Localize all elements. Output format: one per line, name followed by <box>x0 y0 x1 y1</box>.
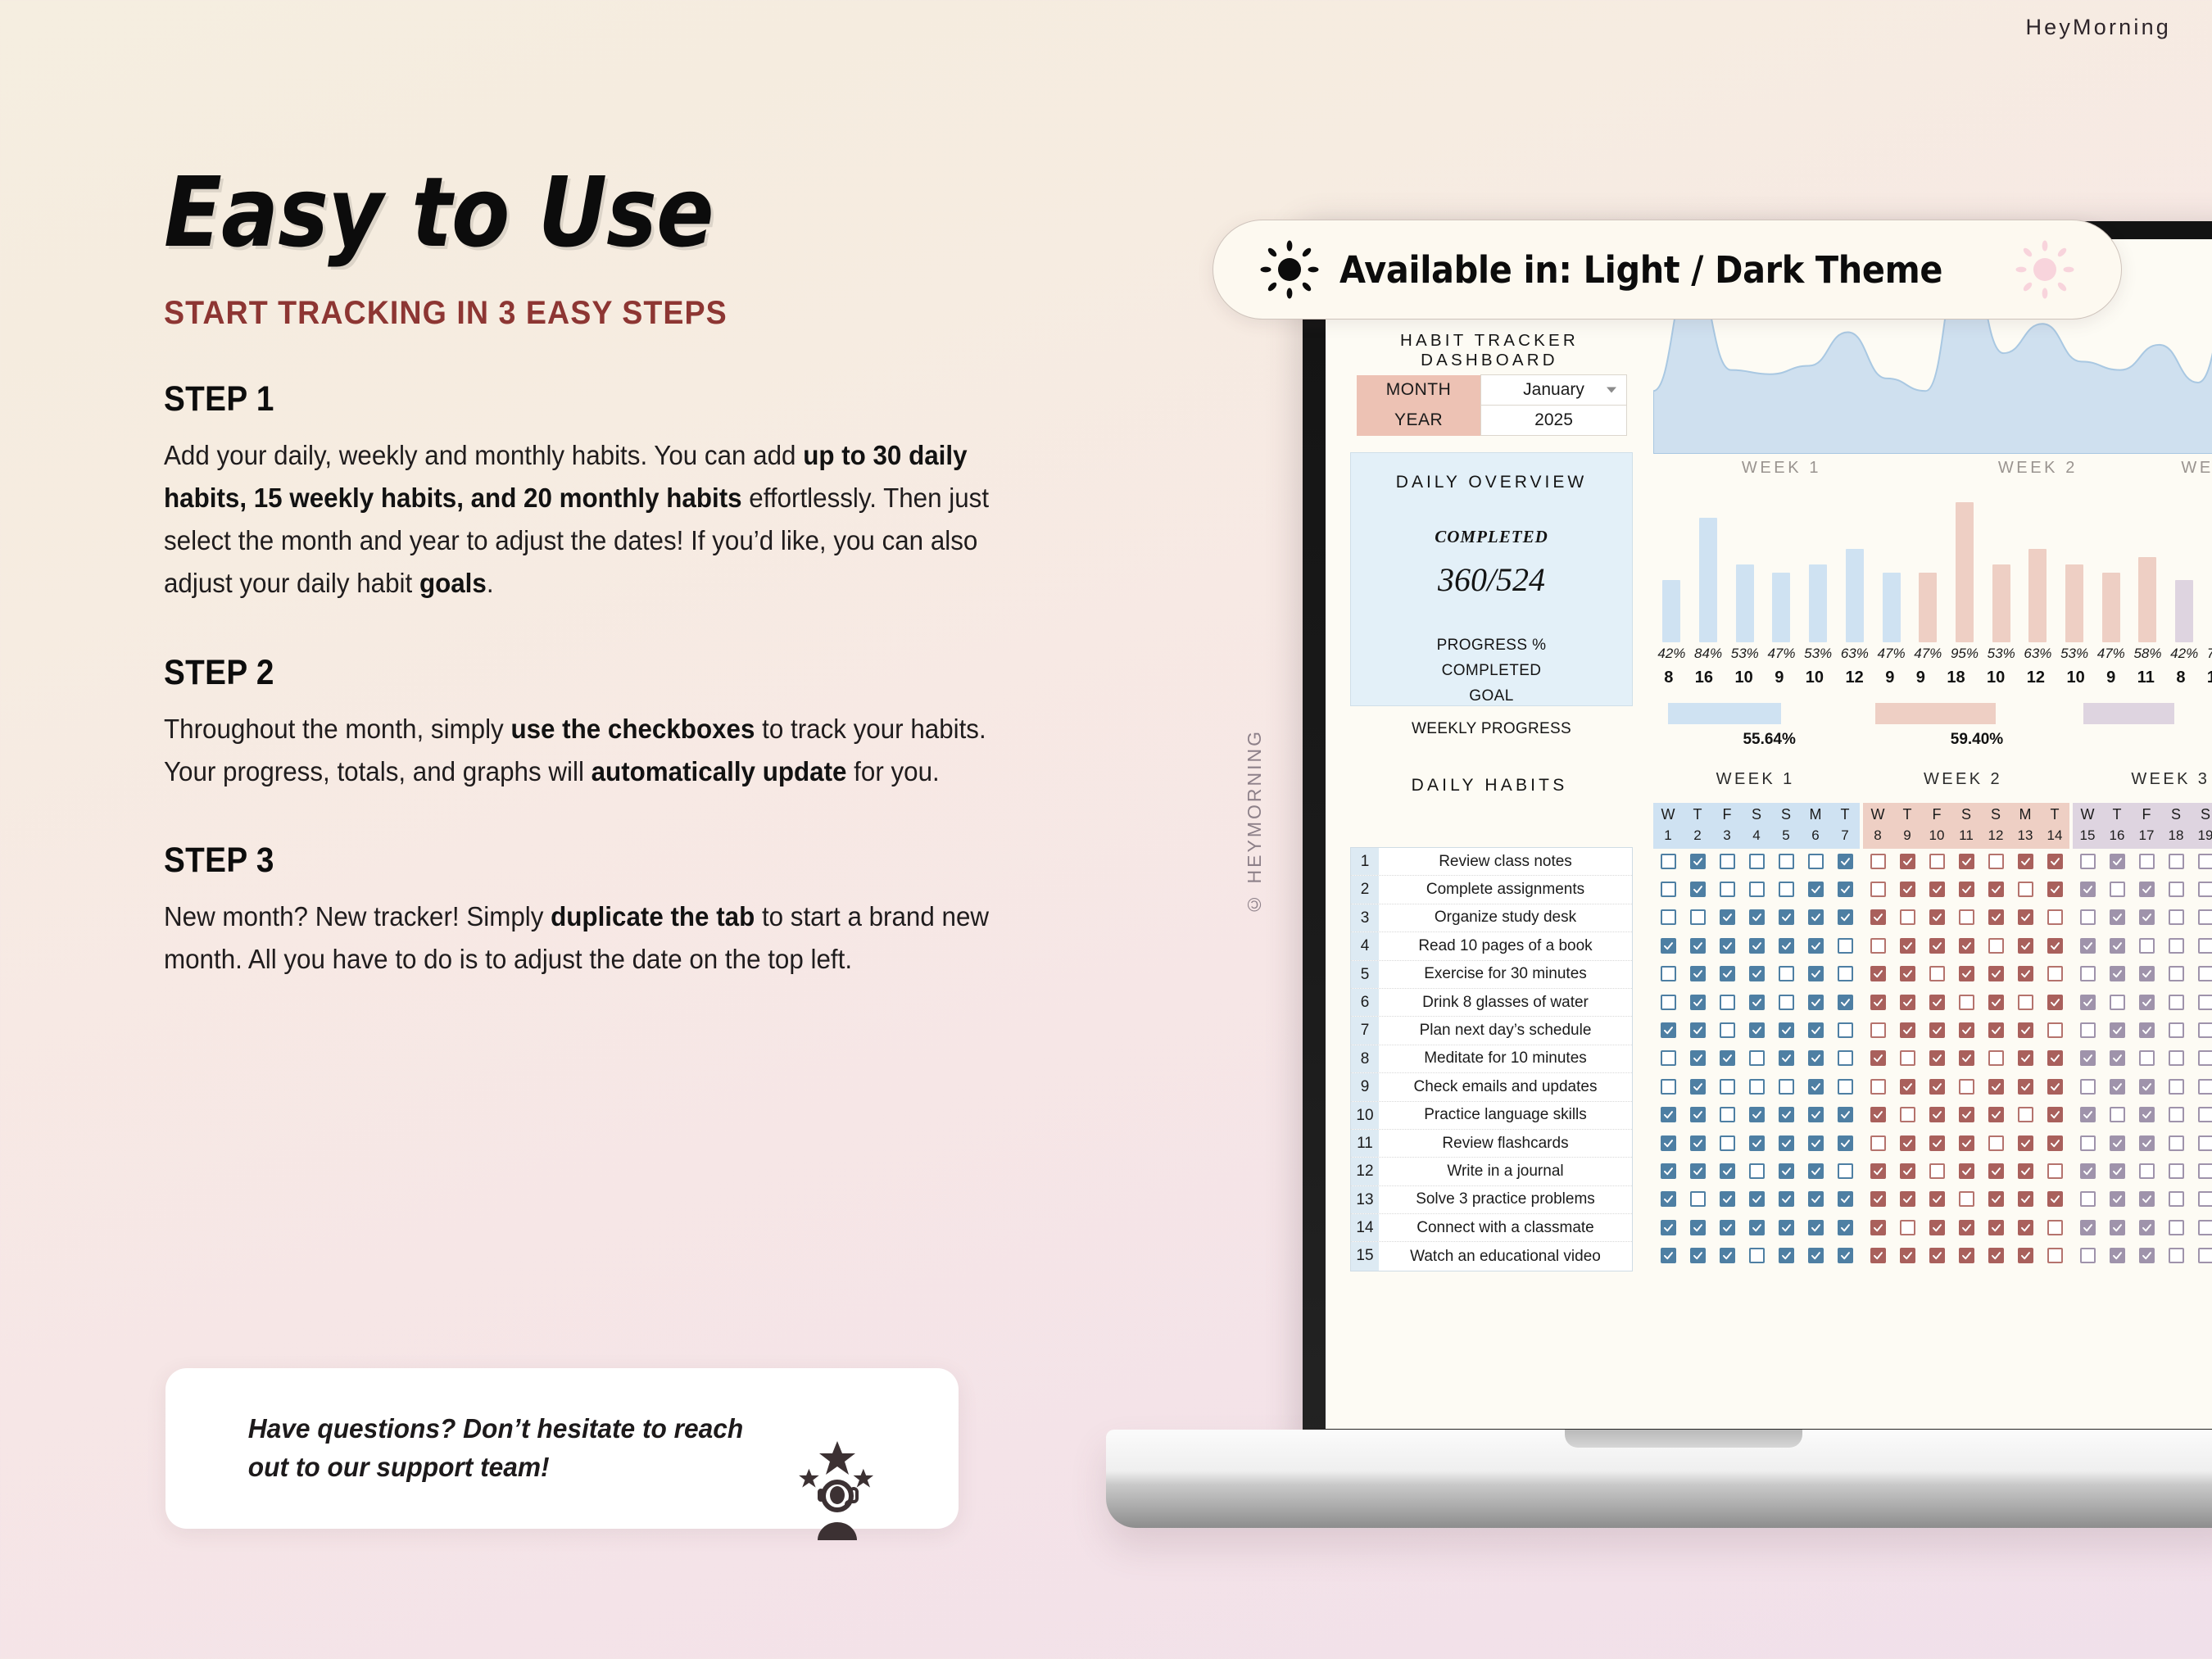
checkbox-checked-icon[interactable] <box>1838 854 1853 869</box>
checkbox-cell[interactable] <box>1922 966 1951 981</box>
checkbox-checked-icon[interactable] <box>2018 1163 2033 1179</box>
checkbox-unchecked-icon[interactable] <box>1838 938 1853 954</box>
checkbox-cell[interactable] <box>1830 909 1860 925</box>
checkbox-cell[interactable] <box>2161 1022 2191 1038</box>
checkbox-unchecked-icon[interactable] <box>2169 1163 2184 1179</box>
checkbox-cell[interactable] <box>2040 1022 2069 1038</box>
habit-row[interactable]: 6Drink 8 glasses of water <box>1351 989 1632 1017</box>
checkbox-cell[interactable] <box>1683 882 1712 897</box>
checkbox-cell[interactable] <box>2010 966 2040 981</box>
checkbox-cell[interactable] <box>2102 938 2132 954</box>
checkbox-checked-icon[interactable] <box>2139 1107 2155 1122</box>
checkbox-unchecked-icon[interactable] <box>1720 882 1735 897</box>
checkbox-checked-icon[interactable] <box>1749 1135 1765 1151</box>
checkbox-cell[interactable] <box>1863 1220 1892 1235</box>
checkbox-cell[interactable] <box>1922 1107 1951 1122</box>
checkbox-unchecked-icon[interactable] <box>2018 1107 2033 1122</box>
checkbox-unchecked-icon[interactable] <box>1779 882 1794 897</box>
checkbox-cell[interactable] <box>1712 882 1742 897</box>
checkbox-cell[interactable] <box>2102 1050 2132 1066</box>
checkbox-cell[interactable] <box>1801 938 1830 954</box>
habit-name[interactable]: Review class notes <box>1379 853 1632 871</box>
checkbox-unchecked-icon[interactable] <box>2169 1079 2184 1095</box>
checkbox-checked-icon[interactable] <box>1779 1135 1794 1151</box>
checkbox-unchecked-icon[interactable] <box>1779 995 1794 1010</box>
checkbox-cell[interactable] <box>2073 1248 2102 1263</box>
habit-row[interactable]: 2Complete assignments <box>1351 876 1632 904</box>
checkbox-cell[interactable] <box>1742 1163 1771 1179</box>
habit-name[interactable]: Exercise for 30 minutes <box>1379 965 1632 983</box>
checkbox-cell[interactable] <box>1981 1050 2010 1066</box>
checkbox-cell[interactable] <box>1892 1248 1922 1263</box>
habit-name[interactable]: Organize study desk <box>1379 909 1632 927</box>
checkbox-checked-icon[interactable] <box>2080 1050 2096 1066</box>
checkbox-checked-icon[interactable] <box>1959 882 1974 897</box>
checkbox-checked-icon[interactable] <box>2018 1248 2033 1263</box>
checkbox-checked-icon[interactable] <box>1720 938 1735 954</box>
chevron-down-icon[interactable] <box>1607 388 1616 393</box>
checkbox-checked-icon[interactable] <box>1838 995 1853 1010</box>
checkbox-cell[interactable] <box>1981 1191 2010 1207</box>
checkbox-cell[interactable] <box>1981 1022 2010 1038</box>
checkbox-cell[interactable] <box>1683 1022 1712 1038</box>
checkbox-cell[interactable] <box>1771 938 1801 954</box>
checkbox-unchecked-icon[interactable] <box>1838 966 1853 981</box>
checkbox-cell[interactable] <box>1922 1050 1951 1066</box>
checkbox-unchecked-icon[interactable] <box>1661 882 1676 897</box>
support-card[interactable]: Have questions? Don’t hesitate to reach … <box>165 1368 959 1529</box>
checkbox-checked-icon[interactable] <box>2139 882 2155 897</box>
checkbox-cell[interactable] <box>2132 1050 2161 1066</box>
checkbox-cell[interactable] <box>1653 995 1683 1010</box>
checkbox-cell[interactable] <box>1801 909 1830 925</box>
checkbox-cell[interactable] <box>2132 1079 2161 1095</box>
checkbox-checked-icon[interactable] <box>2110 1079 2125 1095</box>
checkbox-unchecked-icon[interactable] <box>1690 909 1706 925</box>
checkbox-unchecked-icon[interactable] <box>1661 966 1676 981</box>
checkbox-checked-icon[interactable] <box>1808 1248 1824 1263</box>
checkbox-cell[interactable] <box>2191 1135 2212 1151</box>
checkbox-cell[interactable] <box>1712 1220 1742 1235</box>
checkbox-checked-icon[interactable] <box>2110 854 2125 869</box>
checkbox-checked-icon[interactable] <box>2110 966 2125 981</box>
checkbox-unchecked-icon[interactable] <box>1929 854 1945 869</box>
checkbox-checked-icon[interactable] <box>2080 938 2096 954</box>
checkbox-cell[interactable] <box>1892 1079 1922 1095</box>
checkbox-unchecked-icon[interactable] <box>1870 882 1886 897</box>
checkbox-cell[interactable] <box>1771 1107 1801 1122</box>
checkbox-checked-icon[interactable] <box>2139 909 2155 925</box>
checkbox-checked-icon[interactable] <box>1808 1050 1824 1066</box>
checkbox-checked-icon[interactable] <box>1929 938 1945 954</box>
checkbox-checked-icon[interactable] <box>1808 1079 1824 1095</box>
checkbox-checked-icon[interactable] <box>1808 1135 1824 1151</box>
checkbox-cell[interactable] <box>1830 1022 1860 1038</box>
checkbox-cell[interactable] <box>2161 1050 2191 1066</box>
checkbox-cell[interactable] <box>1922 1022 1951 1038</box>
habit-row[interactable]: 13Solve 3 practice problems <box>1351 1186 1632 1214</box>
checkbox-cell[interactable] <box>1922 1248 1951 1263</box>
checkbox-checked-icon[interactable] <box>1749 1220 1765 1235</box>
checkbox-cell[interactable] <box>1951 995 1981 1010</box>
checkbox-checked-icon[interactable] <box>1808 1022 1824 1038</box>
checkbox-checked-icon[interactable] <box>2110 938 2125 954</box>
habit-row[interactable]: 11Review flashcards <box>1351 1130 1632 1158</box>
checkbox-cell[interactable] <box>1951 1135 1981 1151</box>
checkbox-cell[interactable] <box>1951 938 1981 954</box>
checkbox-unchecked-icon[interactable] <box>1988 1050 2004 1066</box>
checkbox-checked-icon[interactable] <box>2018 1191 2033 1207</box>
checkbox-cell[interactable] <box>1892 1107 1922 1122</box>
checkbox-cell[interactable] <box>2010 854 2040 869</box>
checkbox-unchecked-icon[interactable] <box>2080 854 2096 869</box>
habit-name[interactable]: Check emails and updates <box>1379 1078 1632 1096</box>
checkbox-unchecked-icon[interactable] <box>2047 909 2063 925</box>
checkbox-checked-icon[interactable] <box>1929 1135 1945 1151</box>
checkbox-cell[interactable] <box>1951 854 1981 869</box>
checkbox-checked-icon[interactable] <box>1779 1220 1794 1235</box>
checkbox-cell[interactable] <box>1922 909 1951 925</box>
checkbox-checked-icon[interactable] <box>1988 1248 2004 1263</box>
year-input[interactable]: 2025 <box>1481 406 1627 436</box>
checkbox-cell[interactable] <box>2010 1220 2040 1235</box>
checkbox-checked-icon[interactable] <box>1690 938 1706 954</box>
checkbox-cell[interactable] <box>2132 938 2161 954</box>
checkbox-checked-icon[interactable] <box>1870 1248 1886 1263</box>
checkbox-checked-icon[interactable] <box>1838 1135 1853 1151</box>
checkbox-unchecked-icon[interactable] <box>2080 1248 2096 1263</box>
checkbox-cell[interactable] <box>1653 909 1683 925</box>
checkbox-unchecked-icon[interactable] <box>2169 1107 2184 1122</box>
checkbox-cell[interactable] <box>2132 1107 2161 1122</box>
checkbox-checked-icon[interactable] <box>2110 1248 2125 1263</box>
checkbox-cell[interactable] <box>2161 995 2191 1010</box>
checkbox-checked-icon[interactable] <box>2047 995 2063 1010</box>
checkbox-checked-icon[interactable] <box>1959 1050 1974 1066</box>
checkbox-cell[interactable] <box>1653 1079 1683 1095</box>
checkbox-cell[interactable] <box>1801 1191 1830 1207</box>
checkbox-unchecked-icon[interactable] <box>2169 1022 2184 1038</box>
checkbox-cell[interactable] <box>2102 1079 2132 1095</box>
checkbox-checked-icon[interactable] <box>2047 1079 2063 1095</box>
checkbox-cell[interactable] <box>1951 1248 1981 1263</box>
checkbox-cell[interactable] <box>1922 1220 1951 1235</box>
checkbox-checked-icon[interactable] <box>1900 1022 1915 1038</box>
checkbox-cell[interactable] <box>1771 966 1801 981</box>
checkbox-cell[interactable] <box>1981 995 2010 1010</box>
checkbox-unchecked-icon[interactable] <box>1749 854 1765 869</box>
checkbox-cell[interactable] <box>2073 882 2102 897</box>
checkbox-cell[interactable] <box>2161 1107 2191 1122</box>
checkbox-checked-icon[interactable] <box>1720 966 1735 981</box>
checkbox-cell[interactable] <box>1951 909 1981 925</box>
checkbox-checked-icon[interactable] <box>1808 1191 1824 1207</box>
checkbox-cell[interactable] <box>1830 938 1860 954</box>
checkbox-cell[interactable] <box>2132 1135 2161 1151</box>
checkbox-cell[interactable] <box>2040 1079 2069 1095</box>
checkbox-checked-icon[interactable] <box>1690 1163 1706 1179</box>
checkbox-checked-icon[interactable] <box>2047 1135 2063 1151</box>
checkbox-cell[interactable] <box>1683 966 1712 981</box>
checkbox-checked-icon[interactable] <box>2018 1079 2033 1095</box>
checkbox-checked-icon[interactable] <box>2018 1135 2033 1151</box>
checkbox-cell[interactable] <box>1771 854 1801 869</box>
checkbox-checked-icon[interactable] <box>2018 1022 2033 1038</box>
checkbox-unchecked-icon[interactable] <box>2169 1248 2184 1263</box>
checkbox-cell[interactable] <box>1712 1079 1742 1095</box>
checkbox-checked-icon[interactable] <box>1808 938 1824 954</box>
checkbox-cell[interactable] <box>2073 1050 2102 1066</box>
checkbox-cell[interactable] <box>1683 1135 1712 1151</box>
checkbox-checked-icon[interactable] <box>2139 1079 2155 1095</box>
checkbox-checked-icon[interactable] <box>2139 966 2155 981</box>
checkbox-unchecked-icon[interactable] <box>1929 966 1945 981</box>
checkbox-unchecked-icon[interactable] <box>2169 966 2184 981</box>
checkbox-unchecked-icon[interactable] <box>2047 1022 2063 1038</box>
checkbox-checked-icon[interactable] <box>2080 882 2096 897</box>
habit-name[interactable]: Write in a journal <box>1379 1163 1632 1181</box>
checkbox-checked-icon[interactable] <box>2139 1022 2155 1038</box>
checkbox-cell[interactable] <box>1771 1220 1801 1235</box>
checkbox-cell[interactable] <box>1801 1220 1830 1235</box>
checkbox-cell[interactable] <box>2102 995 2132 1010</box>
checkbox-checked-icon[interactable] <box>1959 854 1974 869</box>
checkbox-cell[interactable] <box>2102 1191 2132 1207</box>
habit-row[interactable]: 10Practice language skills <box>1351 1102 1632 1130</box>
checkbox-cell[interactable] <box>2191 882 2212 897</box>
habit-row[interactable]: 8Meditate for 10 minutes <box>1351 1045 1632 1073</box>
checkbox-checked-icon[interactable] <box>1749 966 1765 981</box>
checkbox-checked-icon[interactable] <box>1749 909 1765 925</box>
checkbox-unchecked-icon[interactable] <box>1870 854 1886 869</box>
checkbox-checked-icon[interactable] <box>1720 1248 1735 1263</box>
habit-row[interactable]: 5Exercise for 30 minutes <box>1351 961 1632 989</box>
checkbox-cell[interactable] <box>2040 1050 2069 1066</box>
checkbox-checked-icon[interactable] <box>1661 1220 1676 1235</box>
checkbox-checked-icon[interactable] <box>2139 1191 2155 1207</box>
checkbox-cell[interactable] <box>1892 1191 1922 1207</box>
checkbox-cell[interactable] <box>1830 995 1860 1010</box>
checkbox-unchecked-icon[interactable] <box>2198 1248 2212 1263</box>
checkbox-unchecked-icon[interactable] <box>2080 909 2096 925</box>
checkbox-checked-icon[interactable] <box>1720 1163 1735 1179</box>
checkbox-cell[interactable] <box>2040 938 2069 954</box>
checkbox-checked-icon[interactable] <box>1661 938 1676 954</box>
checkbox-unchecked-icon[interactable] <box>2169 854 2184 869</box>
checkbox-checked-icon[interactable] <box>1959 1163 1974 1179</box>
checkbox-cell[interactable] <box>1742 1050 1771 1066</box>
checkbox-unchecked-icon[interactable] <box>1749 1163 1765 1179</box>
checkbox-unchecked-icon[interactable] <box>2198 1107 2212 1122</box>
checkbox-cell[interactable] <box>2073 1022 2102 1038</box>
checkbox-checked-icon[interactable] <box>1690 966 1706 981</box>
checkbox-checked-icon[interactable] <box>2080 995 2096 1010</box>
checkbox-checked-icon[interactable] <box>1808 1220 1824 1235</box>
checkbox-cell[interactable] <box>1830 1248 1860 1263</box>
checkbox-cell[interactable] <box>2191 1022 2212 1038</box>
checkbox-checked-icon[interactable] <box>1959 1022 1974 1038</box>
checkbox-cell[interactable] <box>1742 1079 1771 1095</box>
checkbox-unchecked-icon[interactable] <box>2139 938 2155 954</box>
checkbox-cell[interactable] <box>2102 1163 2132 1179</box>
checkbox-cell[interactable] <box>1892 995 1922 1010</box>
checkbox-cell[interactable] <box>2191 854 2212 869</box>
habit-name[interactable]: Connect with a classmate <box>1379 1219 1632 1237</box>
habit-name[interactable]: Plan next day’s schedule <box>1379 1022 1632 1040</box>
checkbox-cell[interactable] <box>1683 995 1712 1010</box>
checkbox-checked-icon[interactable] <box>2139 1135 2155 1151</box>
checkbox-cell[interactable] <box>2073 1220 2102 1235</box>
checkbox-cell[interactable] <box>2073 909 2102 925</box>
checkbox-cell[interactable] <box>2191 1163 2212 1179</box>
checkbox-cell[interactable] <box>2132 909 2161 925</box>
checkbox-cell[interactable] <box>2102 966 2132 981</box>
checkbox-cell[interactable] <box>1712 995 1742 1010</box>
checkbox-cell[interactable] <box>2010 1022 2040 1038</box>
checkbox-cell[interactable] <box>2102 1135 2132 1151</box>
checkbox-checked-icon[interactable] <box>1870 1163 1886 1179</box>
checkbox-cell[interactable] <box>1922 1079 1951 1095</box>
checkbox-checked-icon[interactable] <box>1808 995 1824 1010</box>
checkbox-cell[interactable] <box>2102 1022 2132 1038</box>
checkbox-unchecked-icon[interactable] <box>2169 882 2184 897</box>
checkbox-cell[interactable] <box>1863 995 1892 1010</box>
checkbox-cell[interactable] <box>1771 1135 1801 1151</box>
checkbox-cell[interactable] <box>1742 995 1771 1010</box>
checkbox-unchecked-icon[interactable] <box>2080 1191 2096 1207</box>
checkbox-unchecked-icon[interactable] <box>1720 1022 1735 1038</box>
checkbox-cell[interactable] <box>2010 882 2040 897</box>
checkbox-checked-icon[interactable] <box>1779 1163 1794 1179</box>
checkbox-cell[interactable] <box>2010 1163 2040 1179</box>
checkbox-checked-icon[interactable] <box>1870 966 1886 981</box>
checkbox-unchecked-icon[interactable] <box>2198 1050 2212 1066</box>
checkbox-cell[interactable] <box>2132 854 2161 869</box>
checkbox-checked-icon[interactable] <box>2018 909 2033 925</box>
checkbox-checked-icon[interactable] <box>1959 1135 1974 1151</box>
checkbox-cell[interactable] <box>2161 966 2191 981</box>
checkbox-cell[interactable] <box>1951 1107 1981 1122</box>
checkbox-cell[interactable] <box>2161 909 2191 925</box>
checkbox-unchecked-icon[interactable] <box>1720 854 1735 869</box>
checkbox-cell[interactable] <box>1981 909 2010 925</box>
checkbox-checked-icon[interactable] <box>2110 909 2125 925</box>
checkbox-unchecked-icon[interactable] <box>2080 1022 2096 1038</box>
checkbox-checked-icon[interactable] <box>1690 1220 1706 1235</box>
checkbox-cell[interactable] <box>1951 1079 1981 1095</box>
checkbox-checked-icon[interactable] <box>1838 1191 1853 1207</box>
checkbox-unchecked-icon[interactable] <box>2198 1191 2212 1207</box>
checkbox-checked-icon[interactable] <box>1929 909 1945 925</box>
checkbox-cell[interactable] <box>2191 1248 2212 1263</box>
checkbox-unchecked-icon[interactable] <box>2018 882 2033 897</box>
checkbox-cell[interactable] <box>2073 1163 2102 1179</box>
checkbox-cell[interactable] <box>2040 854 2069 869</box>
checkbox-checked-icon[interactable] <box>1749 938 1765 954</box>
checkbox-cell[interactable] <box>2073 1107 2102 1122</box>
checkbox-checked-icon[interactable] <box>1720 1220 1735 1235</box>
checkbox-unchecked-icon[interactable] <box>1808 854 1824 869</box>
checkbox-unchecked-icon[interactable] <box>1900 1050 1915 1066</box>
checkbox-cell[interactable] <box>1951 966 1981 981</box>
checkbox-unchecked-icon[interactable] <box>1900 1220 1915 1235</box>
checkbox-cell[interactable] <box>1892 854 1922 869</box>
checkbox-checked-icon[interactable] <box>1900 1191 1915 1207</box>
checkbox-checked-icon[interactable] <box>1661 1135 1676 1151</box>
checkbox-unchecked-icon[interactable] <box>1870 1022 1886 1038</box>
checkbox-unchecked-icon[interactable] <box>1988 938 2004 954</box>
habit-row[interactable]: 14Connect with a classmate <box>1351 1214 1632 1242</box>
checkbox-cell[interactable] <box>1712 854 1742 869</box>
checkbox-checked-icon[interactable] <box>1929 1248 1945 1263</box>
checkbox-checked-icon[interactable] <box>1749 1107 1765 1122</box>
checkbox-checked-icon[interactable] <box>1749 1191 1765 1207</box>
checkbox-cell[interactable] <box>1712 938 1742 954</box>
checkbox-cell[interactable] <box>1863 1163 1892 1179</box>
checkbox-cell[interactable] <box>1683 1107 1712 1122</box>
checkbox-cell[interactable] <box>2191 1050 2212 1066</box>
checkbox-unchecked-icon[interactable] <box>2198 1135 2212 1151</box>
checkbox-checked-icon[interactable] <box>1720 1191 1735 1207</box>
checkbox-checked-icon[interactable] <box>1690 1107 1706 1122</box>
checkbox-checked-icon[interactable] <box>1959 938 1974 954</box>
checkbox-checked-icon[interactable] <box>1959 1248 1974 1263</box>
checkbox-cell[interactable] <box>2073 1079 2102 1095</box>
month-year-selector[interactable]: MONTH January YEAR 2025 <box>1357 374 1627 436</box>
checkbox-cell[interactable] <box>1981 854 2010 869</box>
checkbox-cell[interactable] <box>2040 1220 2069 1235</box>
checkbox-cell[interactable] <box>1830 882 1860 897</box>
checkbox-cell[interactable] <box>1951 882 1981 897</box>
checkbox-cell[interactable] <box>1712 1163 1742 1179</box>
checkbox-cell[interactable] <box>2132 1220 2161 1235</box>
checkbox-checked-icon[interactable] <box>1661 1163 1676 1179</box>
checkbox-unchecked-icon[interactable] <box>1959 1079 1974 1095</box>
checkbox-checked-icon[interactable] <box>2139 1220 2155 1235</box>
habit-row[interactable]: 3Organize study desk <box>1351 904 1632 932</box>
checkbox-cell[interactable] <box>2010 938 2040 954</box>
checkbox-unchecked-icon[interactable] <box>1749 882 1765 897</box>
checkbox-cell[interactable] <box>1922 854 1951 869</box>
checkbox-checked-icon[interactable] <box>1988 995 2004 1010</box>
checkbox-checked-icon[interactable] <box>2110 1135 2125 1151</box>
checkbox-unchecked-icon[interactable] <box>2080 1079 2096 1095</box>
checkbox-cell[interactable] <box>2132 966 2161 981</box>
checkbox-checked-icon[interactable] <box>2139 995 2155 1010</box>
checkbox-cell[interactable] <box>2161 882 2191 897</box>
checkbox-checked-icon[interactable] <box>2047 854 2063 869</box>
checkbox-checked-icon[interactable] <box>1900 854 1915 869</box>
checkbox-cell[interactable] <box>1742 938 1771 954</box>
checkbox-unchecked-icon[interactable] <box>1929 1163 1945 1179</box>
checkbox-cell[interactable] <box>2102 854 2132 869</box>
checkbox-cell[interactable] <box>1653 1220 1683 1235</box>
checkbox-cell[interactable] <box>2102 1220 2132 1235</box>
checkbox-cell[interactable] <box>2040 1135 2069 1151</box>
checkbox-unchecked-icon[interactable] <box>1661 909 1676 925</box>
checkbox-checked-icon[interactable] <box>1870 995 1886 1010</box>
checkbox-checked-icon[interactable] <box>2047 882 2063 897</box>
checkbox-checked-icon[interactable] <box>1779 1107 1794 1122</box>
checkbox-cell[interactable] <box>1742 1022 1771 1038</box>
checkbox-cell[interactable] <box>2040 1107 2069 1122</box>
checkbox-cell[interactable] <box>1653 938 1683 954</box>
checkbox-cell[interactable] <box>1892 966 1922 981</box>
checkbox-unchecked-icon[interactable] <box>2169 1191 2184 1207</box>
checkbox-cell[interactable] <box>2161 1191 2191 1207</box>
checkbox-checked-icon[interactable] <box>2018 938 2033 954</box>
checkbox-cell[interactable] <box>1712 1050 1742 1066</box>
